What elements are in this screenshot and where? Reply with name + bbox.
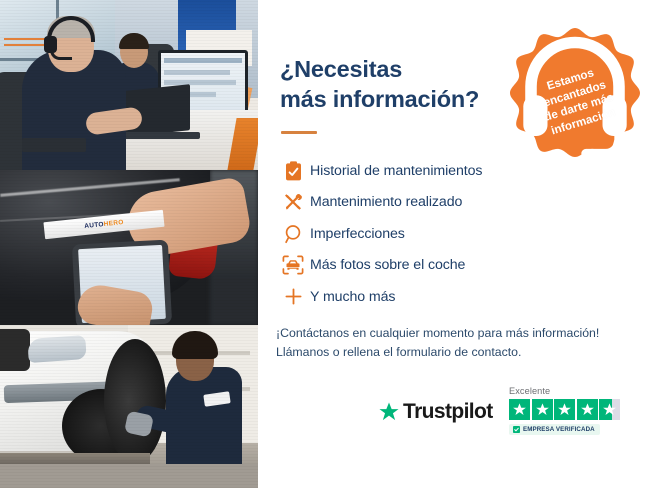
page-title-line2: más información?: [280, 86, 479, 112]
verified-badge: EMPRESA VERIFICADA: [509, 424, 600, 435]
feature-item-imperfections: Imperfecciones: [276, 218, 616, 250]
trustpilot-logo[interactable]: Trustpilot: [378, 400, 493, 424]
support-badge: Estamos encantados de darte más informac…: [509, 26, 641, 158]
ruler-brand-part1: AUTO: [84, 221, 104, 230]
front-tire: [104, 339, 166, 463]
title-divider: [281, 131, 317, 134]
star-rating: [509, 399, 628, 420]
screen-row: [164, 70, 230, 75]
call-center-agents-photo: [0, 0, 258, 170]
magnifier-icon: [276, 224, 310, 244]
screen-row: [164, 58, 242, 63]
feature-label: Y mucho más: [310, 289, 395, 305]
contact-line2: Llámanos o rellena el formulario de cont…: [276, 343, 646, 362]
feature-label: Mantenimiento realizado: [310, 194, 462, 210]
feature-item-maintenance-history: Historial de mantenimientos: [276, 155, 616, 187]
tools-crossed-icon: [276, 192, 310, 212]
ruler-brand-text: AUTOHERO: [84, 219, 124, 230]
feature-label: Imperfecciones: [310, 226, 405, 242]
trustpilot-rating: Excelente: [509, 386, 628, 438]
rating-star: [532, 399, 553, 420]
keyboard: [22, 138, 86, 152]
rating-label: Excelente: [509, 386, 628, 396]
rating-star: [509, 399, 530, 420]
feature-list: Historial de mantenimientos M: [276, 155, 616, 313]
ruler-brand-part2: HERO: [103, 219, 124, 228]
rating-star: [554, 399, 575, 420]
page-title: ¿Necesitas más información?: [280, 54, 530, 114]
vehicle-inspection-photo: AUTOHERO: [0, 170, 258, 325]
car-scan-icon: [276, 255, 310, 275]
screen-row: [164, 80, 236, 85]
verified-badge-label: EMPRESA VERIFICADA: [523, 426, 595, 433]
workshop-floor: [0, 464, 258, 488]
content-panel: ¿Necesitas más información? Estamos enca…: [258, 0, 650, 488]
trustpilot-widget[interactable]: Trustpilot Excelente: [378, 386, 628, 448]
promo-card: AUTOHERO: [0, 0, 650, 488]
feature-item-much-more: Y mucho más: [276, 281, 616, 313]
photo-collage: AUTOHERO: [0, 0, 258, 488]
feature-label: Más fotos sobre el coche: [310, 257, 465, 273]
clipboard-check-icon: [276, 161, 310, 181]
rating-star-partial: [599, 399, 620, 420]
rating-star: [577, 399, 598, 420]
page-title-line1: ¿Necesitas: [280, 56, 402, 82]
workshop-wheel-check-photo: [0, 325, 258, 488]
car-headlight: [27, 335, 87, 363]
plus-icon: [276, 287, 310, 306]
feature-item-more-photos: Más fotos sobre el coche: [276, 250, 616, 282]
verified-check-icon: [513, 426, 520, 433]
car-grille: [0, 329, 30, 371]
feature-item-maintenance-done: Mantenimiento realizado: [276, 187, 616, 219]
contact-line1: ¡Contáctanos en cualquier momento para m…: [276, 324, 646, 343]
trustpilot-star-icon: [378, 401, 400, 423]
trustpilot-brand: Trustpilot: [403, 400, 493, 424]
feature-label: Historial de mantenimientos: [310, 163, 482, 179]
contact-text: ¡Contáctanos en cualquier momento para m…: [276, 324, 646, 362]
